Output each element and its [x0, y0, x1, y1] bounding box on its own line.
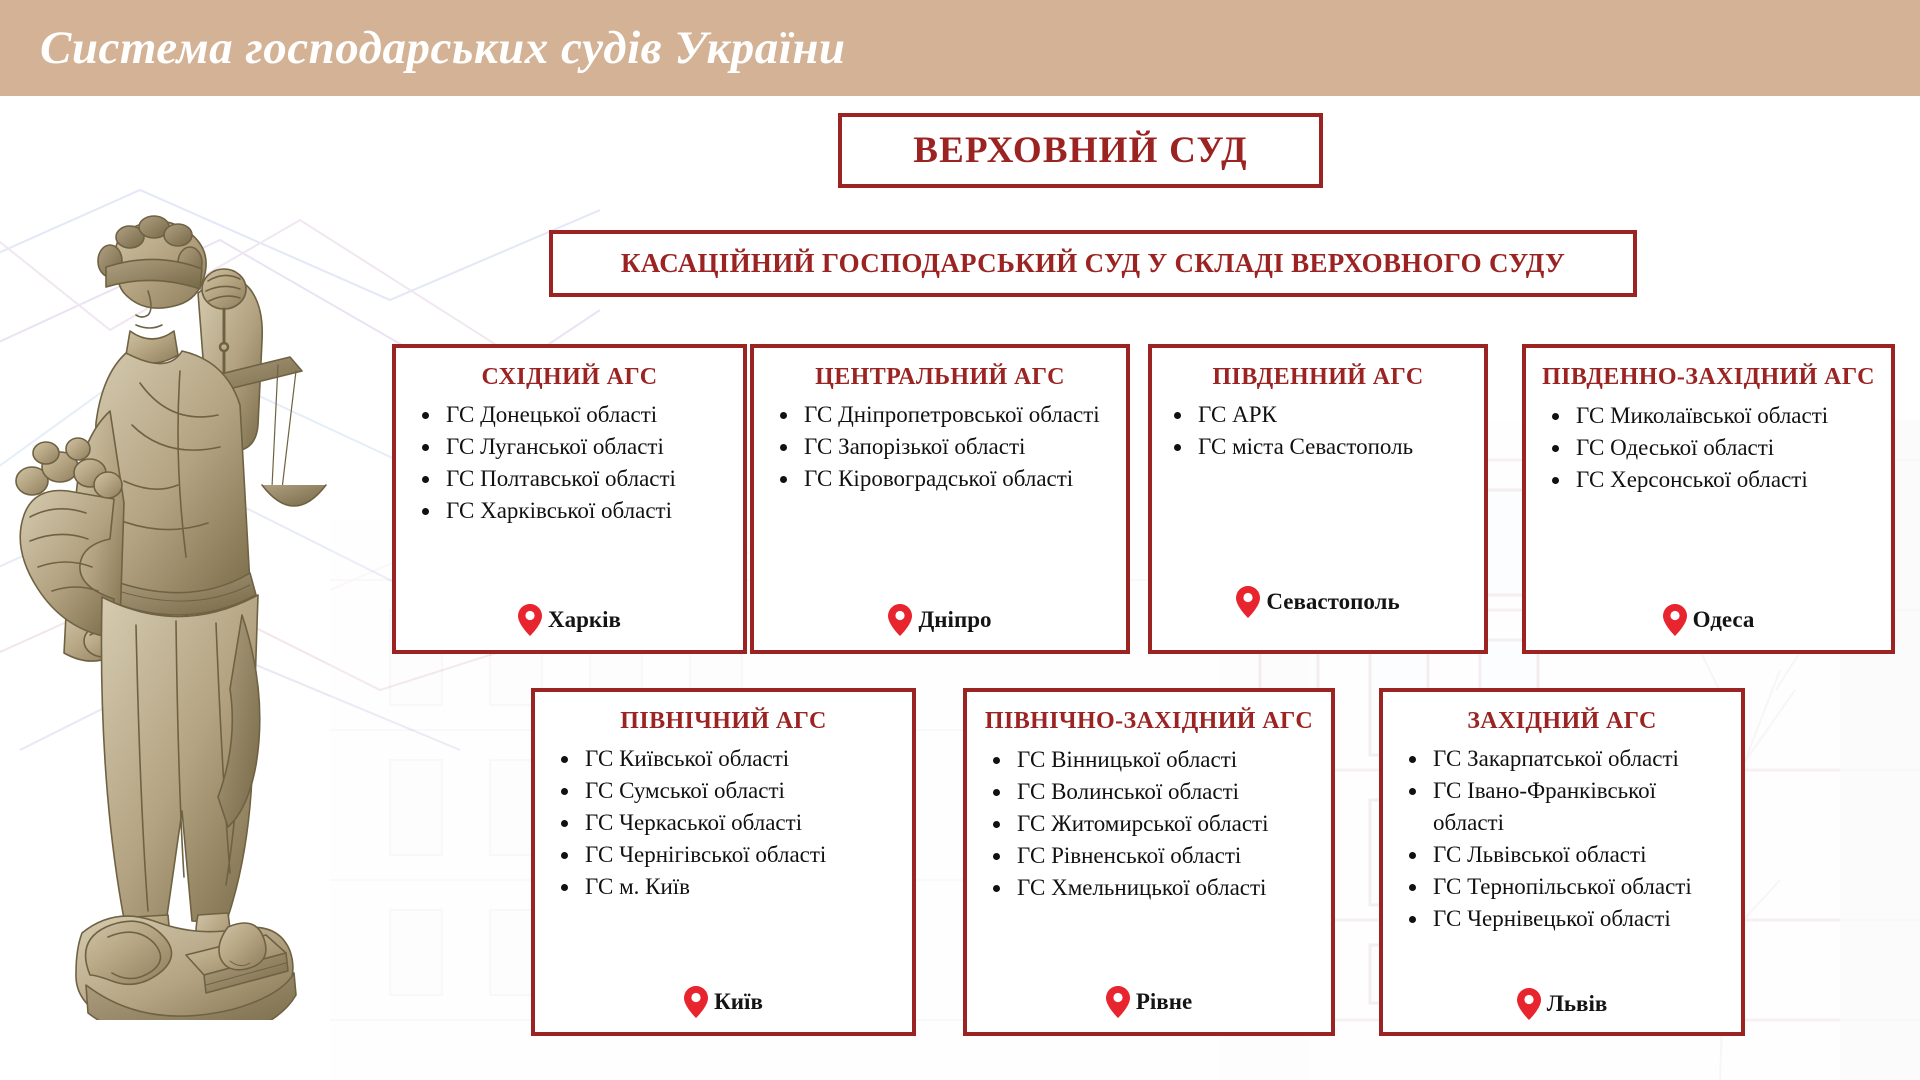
list-item: ГС Закарпатської області — [1429, 743, 1727, 775]
list-item: ГС Харківської області — [442, 495, 729, 527]
list-item: ГС Кіровоградської області — [800, 463, 1112, 495]
list-item: ГС Волинської області — [1013, 776, 1317, 808]
list-item: ГС Вінницької області — [1013, 744, 1317, 776]
list-item: ГС Миколаївської області — [1572, 400, 1877, 432]
list-item: ГС АРК — [1194, 399, 1470, 431]
list-item: ГС міста Севастополь — [1194, 431, 1470, 463]
card-city: Київ — [545, 986, 902, 1022]
list-item: ГС Рівненської області — [1013, 840, 1317, 872]
map-pin-icon — [888, 604, 912, 636]
card-title: ПІВНІЧНО-ЗАХІДНИЙ АГС — [977, 706, 1321, 736]
list-item: ГС Київської області — [581, 743, 898, 775]
list-item: ГС Львівської області — [1429, 839, 1727, 871]
supreme-court-box: ВЕРХОВНИЙ СУД — [838, 113, 1323, 188]
card-city: Харків — [406, 604, 733, 640]
card-city: Одеса — [1536, 604, 1881, 640]
card-title: ЦЕНТРАЛЬНИЙ АГС — [764, 362, 1116, 393]
list-item: ГС Тернопільської області — [1429, 871, 1727, 903]
card-south: ПІВДЕННИЙ АГС ГС АРК ГС міста Севастопол… — [1148, 344, 1488, 654]
map-pin-icon — [518, 604, 542, 636]
card-city: Рівне — [977, 986, 1321, 1022]
cassation-court-box: КАСАЦІЙНИЙ ГОСПОДАРСЬКИЙ СУД У СКЛАДІ ВЕ… — [549, 230, 1637, 297]
card-city: Севастополь — [1162, 586, 1474, 640]
card-title: ПІВДЕННИЙ АГС — [1162, 362, 1474, 393]
map-pin-icon — [1106, 986, 1130, 1018]
page-title: Система господарських судів України — [40, 20, 846, 76]
card-city: Львів — [1393, 988, 1731, 1022]
list-item: ГС Одеської області — [1572, 432, 1877, 464]
cassation-court-label: КАСАЦІЙНИЙ ГОСПОДАРСЬКИЙ СУД У СКЛАДІ ВЕ… — [621, 248, 1565, 279]
court-list: ГС Вінницької області ГС Волинської обла… — [977, 744, 1321, 904]
city-label: Севастополь — [1266, 589, 1399, 615]
card-title: ЗАХІДНИЙ АГС — [1393, 706, 1731, 737]
list-item: ГС Черкаської області — [581, 807, 898, 839]
card-city: Дніпро — [764, 604, 1116, 640]
city-label: Рівне — [1136, 989, 1192, 1015]
court-list: ГС Київської області ГС Сумської області… — [545, 743, 902, 903]
header-band: Система господарських судів України — [0, 0, 1920, 96]
map-pin-icon — [684, 986, 708, 1018]
list-item: ГС Полтавської області — [442, 463, 729, 495]
card-central: ЦЕНТРАЛЬНИЙ АГС ГС Дніпропетровської обл… — [750, 344, 1130, 654]
card-north: ПІВНІЧНИЙ АГС ГС Київської області ГС Су… — [531, 688, 916, 1036]
card-northwest: ПІВНІЧНО-ЗАХІДНИЙ АГС ГС Вінницької обла… — [963, 688, 1335, 1036]
list-item: ГС Сумської області — [581, 775, 898, 807]
list-item: ГС Луганської області — [442, 431, 729, 463]
map-pin-icon — [1663, 604, 1687, 636]
city-label: Харків — [548, 607, 621, 633]
court-list: ГС Донецької області ГС Луганської облас… — [406, 399, 733, 527]
map-pin-icon — [1236, 586, 1260, 618]
supreme-court-label: ВЕРХОВНИЙ СУД — [913, 129, 1248, 172]
list-item: ГС Чернівецької області — [1429, 903, 1727, 935]
court-list: ГС Дніпропетровської області ГС Запорізь… — [764, 399, 1116, 495]
list-item: ГС м. Київ — [581, 871, 898, 903]
city-label: Львів — [1547, 991, 1608, 1017]
city-label: Дніпро — [918, 607, 991, 633]
city-label: Одеса — [1693, 607, 1755, 633]
list-item: ГС Херсонської області — [1572, 464, 1877, 496]
card-east: СХІДНИЙ АГС ГС Донецької області ГС Луга… — [392, 344, 747, 654]
list-item: ГС Івано-Франківської області — [1429, 775, 1727, 839]
list-item: ГС Донецької області — [442, 399, 729, 431]
list-item: ГС Житомирської області — [1013, 808, 1317, 840]
map-pin-icon — [1517, 988, 1541, 1020]
court-list: ГС Закарпатської області ГС Івано-Франкі… — [1393, 743, 1731, 935]
court-list: ГС АРК ГС міста Севастополь — [1162, 399, 1474, 463]
list-item: ГС Хмельницької області — [1013, 872, 1317, 904]
court-list: ГС Миколаївської області ГС Одеської обл… — [1536, 400, 1881, 496]
card-southwest: ПІВДЕННО-ЗАХІДНИЙ АГС ГС Миколаївської о… — [1522, 344, 1895, 654]
city-label: Київ — [714, 989, 763, 1015]
card-title: ПІВДЕННО-ЗАХІДНИЙ АГС — [1536, 362, 1881, 392]
list-item: ГС Дніпропетровської області — [800, 399, 1112, 431]
card-title: СХІДНИЙ АГС — [406, 362, 733, 393]
card-title: ПІВНІЧНИЙ АГС — [545, 706, 902, 737]
list-item: ГС Запорізької області — [800, 431, 1112, 463]
list-item: ГС Чернігівської області — [581, 839, 898, 871]
card-west: ЗАХІДНИЙ АГС ГС Закарпатської області ГС… — [1379, 688, 1745, 1036]
